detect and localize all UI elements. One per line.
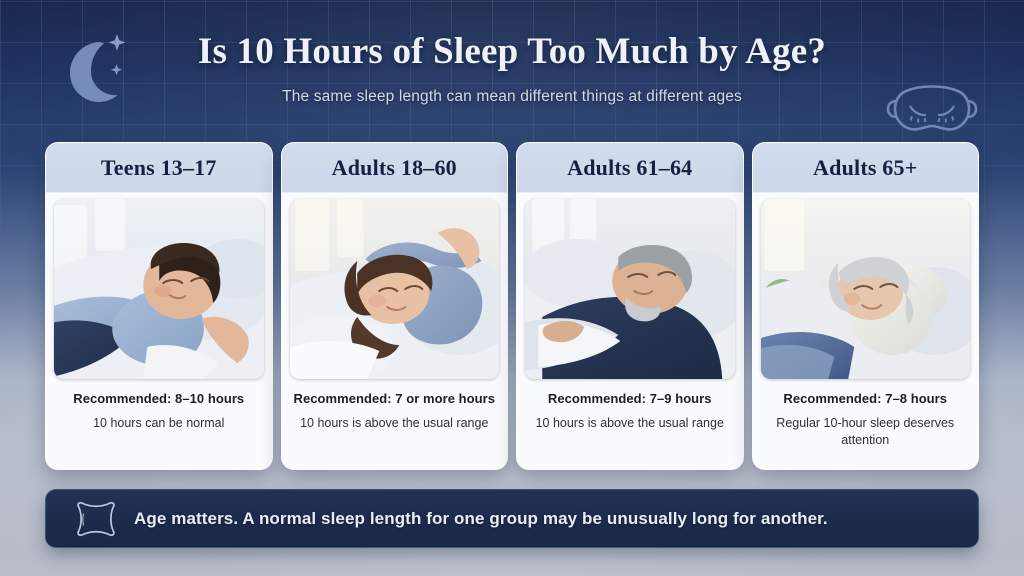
card-footer: Recommended: 7–9 hours 10 hours is above… <box>517 379 743 469</box>
senior-woman-sleeping-photo <box>761 199 971 379</box>
page-title: Is 10 Hours of Sleep Too Much by Age? <box>0 30 1024 73</box>
adult-woman-sleeping-photo <box>290 199 500 379</box>
recommended-hours: Recommended: 7–9 hours <box>548 391 712 406</box>
age-card-teens[interactable]: Teens 13–17 <box>45 142 273 470</box>
card-footer: Recommended: 7 or more hours 10 hours is… <box>282 379 508 469</box>
card-title: Adults 61–64 <box>567 155 692 181</box>
infographic-root: Is 10 Hours of Sleep Too Much by Age? Th… <box>0 0 1024 576</box>
age-card-adults-65-plus[interactable]: Adults 65+ <box>752 142 980 470</box>
card-photo-wrapper <box>517 193 743 379</box>
card-title: Adults 18–60 <box>332 155 457 181</box>
page-subtitle: The same sleep length can mean different… <box>0 88 1024 106</box>
age-card-adults-61-64[interactable]: Adults 61–64 <box>516 142 744 470</box>
banner-message: Age matters. A normal sleep length for o… <box>134 509 828 529</box>
card-photo-wrapper <box>46 193 272 379</box>
card-footer: Recommended: 8–10 hours 10 hours can be … <box>46 379 272 469</box>
card-note: 10 hours can be normal <box>93 415 224 432</box>
card-title: Teens 13–17 <box>101 155 217 181</box>
card-note: 10 hours is above the usual range <box>536 415 724 432</box>
card-title: Adults 65+ <box>813 155 917 181</box>
recommended-hours: Recommended: 7–8 hours <box>783 391 947 406</box>
card-header: Adults 18–60 <box>282 143 508 193</box>
recommended-hours: Recommended: 7 or more hours <box>294 391 496 406</box>
card-header: Adults 61–64 <box>517 143 743 193</box>
card-photo-wrapper <box>282 193 508 379</box>
card-photo-wrapper <box>753 193 979 379</box>
age-group-cards: Teens 13–17 <box>45 142 979 470</box>
card-footer: Recommended: 7–8 hours Regular 10-hour s… <box>753 379 979 469</box>
card-note: Regular 10-hour sleep deserves attention <box>761 415 971 448</box>
card-note: 10 hours is above the usual range <box>300 415 488 432</box>
card-header: Teens 13–17 <box>46 143 272 193</box>
pillow-icon <box>72 501 120 537</box>
card-header: Adults 65+ <box>753 143 979 193</box>
recommended-hours: Recommended: 8–10 hours <box>73 391 244 406</box>
teen-sleeping-photo <box>54 199 264 379</box>
older-man-sleeping-photo <box>525 199 735 379</box>
summary-banner: Age matters. A normal sleep length for o… <box>45 489 979 548</box>
age-card-adults-18-60[interactable]: Adults 18–60 <box>281 142 509 470</box>
